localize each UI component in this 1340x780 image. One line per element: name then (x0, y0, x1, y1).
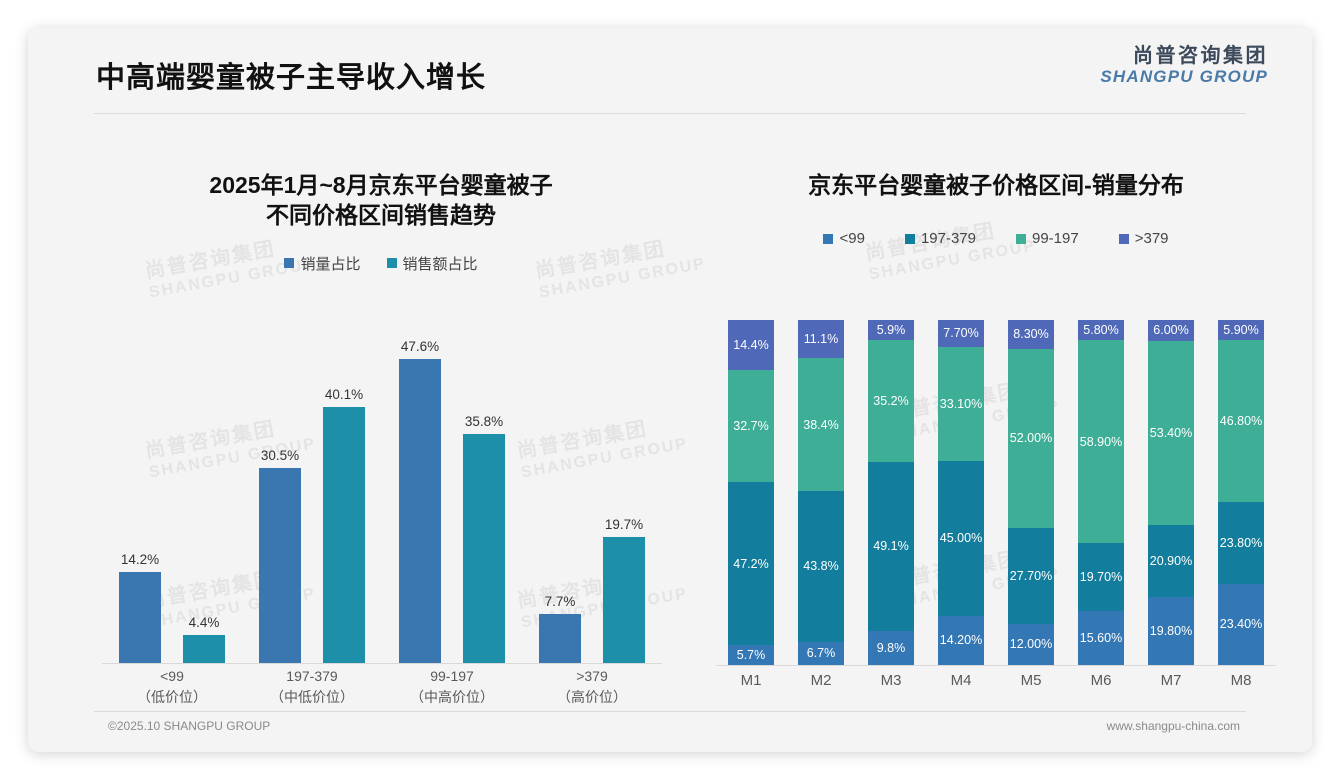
stack-segment[interactable]: 43.8% (798, 491, 844, 642)
x-tick-label: 99-197（中高价位） (382, 666, 522, 708)
x-tick-label: M5 (1008, 672, 1054, 689)
legend-swatch-icon (1119, 234, 1129, 244)
segment-value-label: 46.80% (1220, 414, 1262, 428)
stack-segment[interactable]: 33.10% (938, 347, 984, 461)
left-chart-title-line2: 不同价格区间销售趋势 (76, 200, 686, 230)
bar-value-label: 30.5% (261, 448, 299, 463)
x-axis-line (102, 663, 662, 664)
bar-volume-share[interactable]: 14.2% (119, 572, 161, 663)
bar-value-label: 4.4% (189, 615, 220, 630)
legend-item-revenue-share[interactable]: 销售额占比 (387, 253, 478, 274)
bar-volume-share[interactable]: 30.5% (259, 468, 301, 663)
stack-segment[interactable]: 23.40% (1218, 584, 1264, 665)
x-tick-label: M8 (1218, 672, 1264, 689)
bar-fill (323, 407, 365, 663)
stack-segment[interactable]: 27.70% (1008, 528, 1054, 624)
segment-value-label: 14.20% (940, 633, 982, 647)
stack-segment[interactable]: 46.80% (1218, 340, 1264, 501)
legend-swatch-icon (905, 234, 915, 244)
bar-revenue-share[interactable]: 4.4% (183, 635, 225, 663)
segment-value-label: 12.00% (1010, 637, 1052, 651)
stack-segment[interactable]: 6.7% (798, 642, 844, 665)
bar-value-label: 19.7% (605, 517, 643, 532)
stacked-bar-column[interactable]: 5.80%58.90%19.70%15.60% (1078, 320, 1124, 665)
segment-value-label: 23.80% (1220, 536, 1262, 550)
segment-value-label: 53.40% (1150, 426, 1192, 440)
x-axis-labels: M1M2M3M4M5M6M7M8 (716, 672, 1276, 702)
legend-swatch-icon (1016, 234, 1026, 244)
x-tick-label: M6 (1078, 672, 1124, 689)
stack-segment[interactable]: 8.30% (1008, 320, 1054, 349)
stacked-bar-column[interactable]: 11.1%38.4%43.8%6.7% (798, 320, 844, 665)
segment-value-label: 58.90% (1080, 435, 1122, 449)
stack-segment[interactable]: 47.2% (728, 482, 774, 645)
bar-fill (463, 434, 505, 663)
stacked-bar-column[interactable]: 8.30%52.00%27.70%12.00% (1008, 320, 1054, 665)
stacked-bar-column[interactable]: 6.00%53.40%20.90%19.80% (1148, 320, 1194, 665)
stack-segment[interactable]: 23.80% (1218, 502, 1264, 584)
x-tick-tier: （中低价位） (242, 687, 382, 708)
legend-item-gt379[interactable]: >379 (1119, 230, 1169, 247)
segment-value-label: 45.00% (940, 531, 982, 545)
bar-value-label: 35.8% (465, 414, 503, 429)
stack-segment[interactable]: 6.00% (1148, 320, 1194, 341)
x-tick-label: M4 (938, 672, 984, 689)
stacked-bar-column[interactable]: 5.90%46.80%23.80%23.40% (1218, 320, 1264, 665)
segment-value-label: 7.70% (943, 326, 978, 340)
legend-item-99-197[interactable]: 99-197 (1016, 230, 1079, 247)
stacked-bar-column[interactable]: 7.70%33.10%45.00%14.20% (938, 320, 984, 665)
stack-segment[interactable]: 52.00% (1008, 349, 1054, 528)
stack-segment[interactable]: 7.70% (938, 320, 984, 347)
bar-group: 14.2%4.4% (102, 331, 242, 663)
legend-label: 197-379 (921, 230, 976, 247)
x-tick-tier: （高价位） (522, 687, 662, 708)
segment-value-label: 43.8% (803, 559, 838, 573)
bar-value-label: 40.1% (325, 387, 363, 402)
x-axis-labels: <99（低价位）197-379（中低价位）99-197（中高价位）>379（高价… (102, 666, 662, 722)
x-tick-label: M2 (798, 672, 844, 689)
x-tick-range: 197-379 (286, 668, 337, 684)
footer-website[interactable]: www.shangpu-china.com (1107, 719, 1240, 733)
stack-segment[interactable]: 5.90% (1218, 320, 1264, 340)
segment-value-label: 33.10% (940, 397, 982, 411)
bar-value-label: 47.6% (401, 339, 439, 354)
header-divider (94, 113, 1246, 114)
legend-item-197-379[interactable]: 197-379 (905, 230, 976, 247)
stack-segment[interactable]: 5.80% (1078, 320, 1124, 340)
segment-value-label: 5.9% (877, 323, 906, 337)
logo-text-cn: 尚普咨询集团 (1100, 45, 1268, 67)
left-chart-title: 2025年1月~8月京东平台婴童被子 不同价格区间销售趋势 (76, 170, 686, 231)
segment-value-label: 19.80% (1150, 624, 1192, 638)
bar-revenue-share[interactable]: 35.8% (463, 434, 505, 663)
bar-group: 7.7%19.7% (522, 331, 662, 663)
left-chart-title-line1: 2025年1月~8月京东平台婴童被子 (209, 172, 552, 198)
slide-header: 中高端婴童被子主导收入增长 尚普咨询集团 SHANGPU GROUP (28, 28, 1312, 114)
segment-value-label: 5.80% (1083, 323, 1118, 337)
legend-item-volume-share[interactable]: 销量占比 (284, 253, 360, 274)
segment-value-label: 20.90% (1150, 554, 1192, 568)
legend-swatch-icon (823, 234, 833, 244)
grouped-bar-chart: <99（低价位）197-379（中低价位）99-197（中高价位）>379（高价… (102, 306, 662, 664)
legend-swatch-icon (284, 258, 294, 268)
bar-value-label: 14.2% (121, 552, 159, 567)
segment-value-label: 8.30% (1013, 327, 1048, 341)
x-axis-line (716, 665, 1276, 666)
segment-value-label: 5.7% (737, 648, 766, 662)
stack-segment[interactable]: 14.20% (938, 616, 984, 665)
x-tick-range: 99-197 (430, 668, 474, 684)
bar-value-label: 7.7% (545, 594, 576, 609)
bar-volume-share[interactable]: 7.7% (539, 614, 581, 663)
bar-fill (603, 537, 645, 663)
segment-value-label: 49.1% (873, 539, 908, 553)
x-tick-label: >379（高价位） (522, 666, 662, 708)
segment-value-label: 5.90% (1223, 323, 1258, 337)
legend-swatch-icon (387, 258, 397, 268)
segment-value-label: 14.4% (733, 338, 768, 352)
right-chart-legend: <99 197-379 99-197 >379 (696, 230, 1296, 247)
bar-fill (399, 359, 441, 663)
x-tick-range: >379 (576, 668, 608, 684)
x-tick-label: <99（低价位） (102, 666, 242, 708)
x-tick-label: 197-379（中低价位） (242, 666, 382, 708)
legend-label: 销量占比 (300, 253, 360, 274)
segment-value-label: 32.7% (733, 419, 768, 433)
left-chart-legend: 销量占比 销售额占比 (76, 253, 686, 274)
bar-fill (119, 572, 161, 663)
stack-segment[interactable]: 38.4% (798, 358, 844, 490)
bar-fill (539, 614, 581, 663)
segment-value-label: 19.70% (1080, 570, 1122, 584)
chart-panel-grouped: 2025年1月~8月京东平台婴童被子 不同价格区间销售趋势 销量占比 销售额占比… (76, 140, 686, 715)
segment-value-label: 52.00% (1010, 431, 1052, 445)
stack-segment[interactable]: 5.7% (728, 645, 774, 665)
stack-segment[interactable]: 5.9% (868, 320, 914, 340)
stack-segment[interactable]: 32.7% (728, 370, 774, 483)
footer-copyright: ©2025.10 SHANGPU GROUP (108, 719, 270, 733)
x-tick-label: M7 (1148, 672, 1194, 689)
legend-label: >379 (1135, 230, 1169, 247)
legend-label: <99 (839, 230, 864, 247)
bar-group: 30.5%40.1% (242, 331, 382, 663)
bar-revenue-share[interactable]: 40.1% (323, 407, 365, 663)
x-tick-range: <99 (160, 668, 184, 684)
legend-label: 销售额占比 (403, 253, 478, 274)
segment-value-label: 35.2% (873, 394, 908, 408)
brand-logo: 尚普咨询集团 SHANGPU GROUP (1100, 45, 1268, 86)
bar-fill (259, 468, 301, 663)
stack-segment[interactable]: 45.00% (938, 461, 984, 616)
stack-segment[interactable]: 15.60% (1078, 611, 1124, 665)
stack-segment[interactable]: 9.8% (868, 631, 914, 665)
segment-value-label: 27.70% (1010, 569, 1052, 583)
bar-revenue-share[interactable]: 19.7% (603, 537, 645, 663)
bar-fill (183, 635, 225, 663)
segment-value-label: 6.7% (807, 646, 836, 660)
bar-volume-share[interactable]: 47.6% (399, 359, 441, 663)
page-title: 中高端婴童被子主导收入增长 (96, 54, 486, 96)
legend-label: 99-197 (1032, 230, 1079, 247)
stack-segment[interactable]: 11.1% (798, 320, 844, 358)
stacked-bar-column[interactable]: 14.4%32.7%47.2%5.7% (728, 320, 774, 665)
segment-value-label: 47.2% (733, 557, 768, 571)
stack-segment[interactable]: 35.2% (868, 340, 914, 461)
segment-value-label: 15.60% (1080, 631, 1122, 645)
bar-group: 47.6%35.8% (382, 331, 522, 663)
stack-segment[interactable]: 12.00% (1008, 624, 1054, 665)
x-tick-label: M3 (868, 672, 914, 689)
x-tick-tier: （中高价位） (382, 687, 522, 708)
segment-value-label: 38.4% (803, 418, 838, 432)
stack-segment[interactable]: 58.90% (1078, 340, 1124, 543)
x-tick-label: M1 (728, 672, 774, 689)
footer-divider (94, 711, 1246, 712)
stack-segment[interactable]: 53.40% (1148, 341, 1194, 525)
stacked-bar-column[interactable]: 5.9%35.2%49.1%9.8% (868, 320, 914, 665)
slide-canvas: 尚普咨询集团 SHANGPU GROUP 尚普咨询集团 SHANGPU GROU… (28, 28, 1312, 752)
stack-segment[interactable]: 49.1% (868, 462, 914, 631)
legend-item-lt99[interactable]: <99 (823, 230, 864, 247)
stack-segment[interactable]: 19.70% (1078, 543, 1124, 611)
right-chart-title: 京东平台婴童被子价格区间-销量分布 (696, 170, 1296, 200)
chart-panel-stacked: 京东平台婴童被子价格区间-销量分布 <99 197-379 99-197 >37… (696, 140, 1296, 715)
stack-segment[interactable]: 19.80% (1148, 597, 1194, 665)
logo-text-en: SHANGPU GROUP (1100, 67, 1268, 86)
stacked-bar-chart: M1M2M3M4M5M6M7M8 14.4%32.7%47.2%5.7%11.1… (716, 300, 1276, 666)
stack-segment[interactable]: 20.90% (1148, 525, 1194, 597)
x-tick-tier: （低价位） (102, 687, 242, 708)
segment-value-label: 9.8% (877, 641, 906, 655)
stack-segment[interactable]: 14.4% (728, 320, 774, 370)
segment-value-label: 6.00% (1153, 323, 1188, 337)
segment-value-label: 23.40% (1220, 617, 1262, 631)
segment-value-label: 11.1% (804, 332, 839, 346)
